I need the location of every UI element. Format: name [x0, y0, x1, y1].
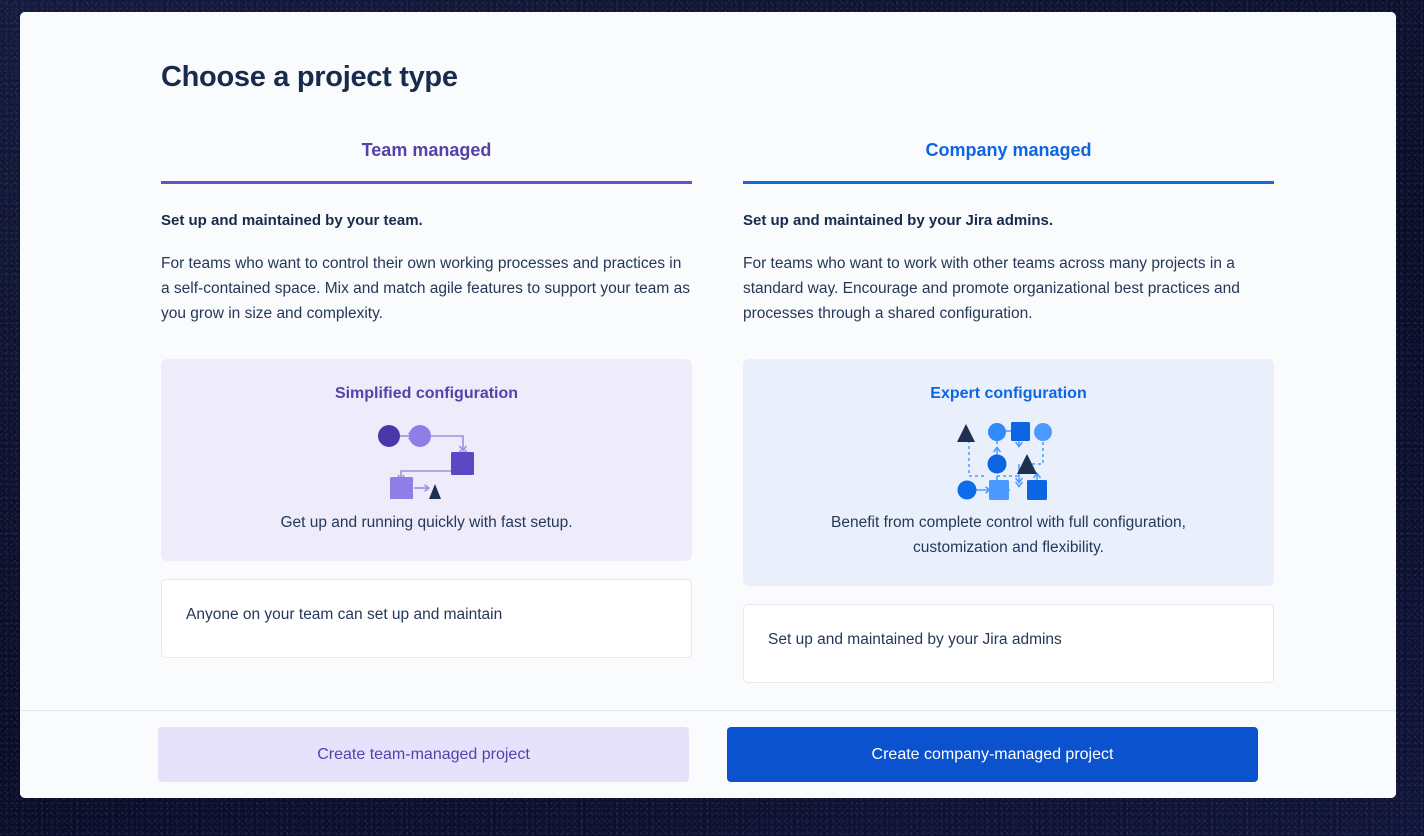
create-company-managed-project-button[interactable]: Create company-managed project: [727, 727, 1258, 782]
tab-team-managed[interactable]: Team managed: [161, 140, 692, 184]
tab-company-managed[interactable]: Company managed: [743, 140, 1274, 184]
company-managed-feature-caption: Benefit from complete control with full …: [799, 510, 1219, 560]
company-managed-sub-panel: Set up and maintained by your Jira admin…: [743, 604, 1274, 683]
dialog-footer: Create team-managed project Create compa…: [20, 710, 1396, 798]
team-managed-sub-panel: Anyone on your team can set up and maint…: [161, 579, 692, 658]
company-managed-lede: Set up and maintained by your Jira admin…: [743, 212, 1274, 229]
company-managed-blurb: For teams who want to work with other te…: [743, 251, 1274, 326]
team-managed-feature-title: Simplified configuration: [185, 385, 668, 403]
company-managed-feature-card: Expert configuration: [743, 359, 1274, 586]
team-managed-feature-card: Simplified configuration: [161, 359, 692, 561]
team-managed-feature-caption: Get up and running quickly with fast set…: [217, 510, 637, 535]
column-company-managed: Company managed Set up and maintained by…: [743, 140, 1274, 683]
team-managed-lede: Set up and maintained by your team.: [161, 212, 692, 229]
tab-company-managed-label: Company managed: [925, 140, 1091, 160]
create-team-managed-project-button[interactable]: Create team-managed project: [158, 727, 689, 782]
choose-project-type-dialog: Choose a project type Team managed Set u…: [20, 12, 1396, 798]
simplified-configuration-diagram: [185, 414, 668, 504]
project-type-columns: Team managed Set up and maintained by yo…: [161, 140, 1274, 683]
page-title: Choose a project type: [161, 61, 458, 94]
tab-team-managed-label: Team managed: [362, 140, 492, 160]
team-managed-blurb: For teams who want to control their own …: [161, 251, 692, 326]
company-managed-feature-title: Expert configuration: [767, 385, 1250, 403]
column-team-managed: Team managed Set up and maintained by yo…: [161, 140, 692, 683]
dialog-body: Choose a project type Team managed Set u…: [20, 12, 1396, 710]
expert-configuration-diagram: [767, 414, 1250, 504]
